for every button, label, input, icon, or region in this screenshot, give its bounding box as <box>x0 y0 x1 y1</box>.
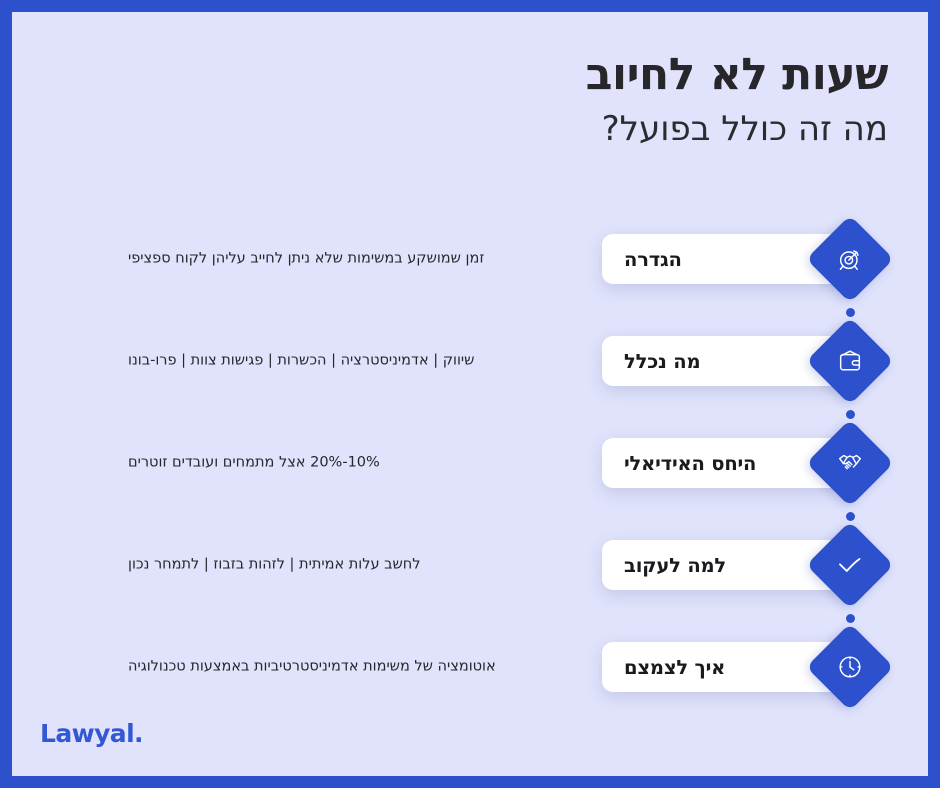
handshake-icon <box>836 449 864 477</box>
clock-icon <box>836 653 864 681</box>
timeline-row: 10%-20% אצל מתמחים ועובדים זוטרים היחס ה… <box>12 412 928 514</box>
wallet-icon <box>836 347 864 375</box>
row-description: שיווק | אדמיניסטרציה | הכשרות | פגישות צ… <box>128 350 518 371</box>
row-description: לחשב עלות אמיתית | לזהות בזבוז | לתמחר נ… <box>128 554 518 575</box>
header: שעות לא לחיוב מה זה כולל בפועל? <box>586 50 888 149</box>
timeline-row: לחשב עלות אמיתית | לזהות בזבוז | לתמחר נ… <box>12 514 928 616</box>
connector-dot <box>846 592 855 601</box>
check-icon <box>835 550 865 580</box>
connector-dot <box>846 388 855 397</box>
connector-dot <box>846 490 855 499</box>
row-description: זמן שמושקע במשימות שלא ניתן לחייב עליהן … <box>128 248 518 269</box>
timeline-row: אוטומציה של משימות אדמיניסטרטיביות באמצע… <box>12 616 928 718</box>
brand-logo: Lawyal. <box>40 719 143 748</box>
row-description: 10%-20% אצל מתמחים ועובדים זוטרים <box>128 452 518 473</box>
target-icon <box>836 245 864 273</box>
timeline: זמן שמושקע במשימות שלא ניתן לחייב עליהן … <box>12 208 928 718</box>
row-description: אוטומציה של משימות אדמיניסטרטיביות באמצע… <box>128 656 518 677</box>
connector-dot <box>846 286 855 295</box>
timeline-row: שיווק | אדמיניסטרציה | הכשרות | פגישות צ… <box>12 310 928 412</box>
timeline-node[interactable] <box>806 623 894 711</box>
infographic-poster: שעות לא לחיוב מה זה כולל בפועל? זמן שמוש… <box>0 0 940 788</box>
timeline-row: זמן שמושקע במשימות שלא ניתן לחייב עליהן … <box>12 208 928 310</box>
page-subtitle: מה זה כולל בפועל? <box>586 109 888 150</box>
page-title: שעות לא לחיוב <box>586 50 888 101</box>
